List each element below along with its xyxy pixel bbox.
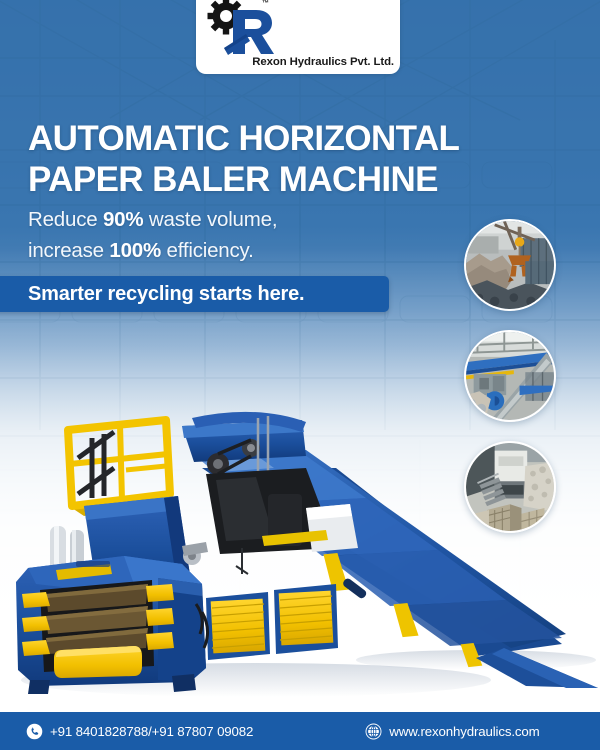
company-name-text: Rexon Hydraulics Pvt. Ltd. — [252, 56, 394, 68]
globe-icon — [365, 723, 382, 740]
stat-efficiency-increase: 100% — [109, 239, 161, 262]
footer-website-item[interactable]: www.rexonhydraulics.com — [365, 723, 539, 740]
phone-icon — [26, 723, 43, 740]
headline-line-2: PAPER BALER MACHINE — [28, 159, 508, 200]
subheading-line-2: increase 100% efficiency. — [28, 235, 448, 266]
subheading-line-1-prefix: Reduce — [28, 208, 103, 231]
subheading-line-1: Reduce 90% waste volume, — [28, 204, 448, 235]
subheading: Reduce 90% waste volume, increase 100% e… — [28, 204, 448, 266]
subheading-line-2-suffix: efficiency. — [161, 239, 254, 262]
thumbnail-scrap-grapple-crane[interactable] — [464, 219, 556, 311]
poster-canvas: ™ Rexon Hydraulics Pvt. Ltd. AUTOMATIC H… — [0, 0, 600, 750]
cta-label: Smarter recycling starts here. — [28, 283, 304, 306]
hero-baler-machine-image — [6, 398, 600, 708]
headline-line-1: AUTOMATIC HORIZONTAL — [28, 119, 459, 158]
subheading-line-1-suffix: waste volume, — [143, 208, 277, 231]
stat-waste-reduction: 90% — [103, 208, 143, 231]
trademark-symbol: ™ — [262, 0, 269, 7]
footer-phone-item[interactable]: +91 8401828788/+91 87807 09082 — [26, 723, 253, 740]
subheading-line-2-prefix: increase — [28, 239, 109, 262]
footer-phone-text: +91 8401828788/+91 87807 09082 — [50, 724, 253, 739]
headline: AUTOMATIC HORIZONTAL PAPER BALER MACHINE — [28, 118, 508, 200]
contact-footer-bar: +91 8401828788/+91 87807 09082 www.rexon… — [0, 712, 600, 750]
gear-r-monogram-icon — [206, 0, 280, 58]
company-logo-badge: ™ Rexon Hydraulics Pvt. Ltd. — [196, 0, 400, 74]
footer-website-text: www.rexonhydraulics.com — [389, 724, 539, 739]
cta-banner[interactable]: Smarter recycling starts here. — [0, 276, 389, 312]
